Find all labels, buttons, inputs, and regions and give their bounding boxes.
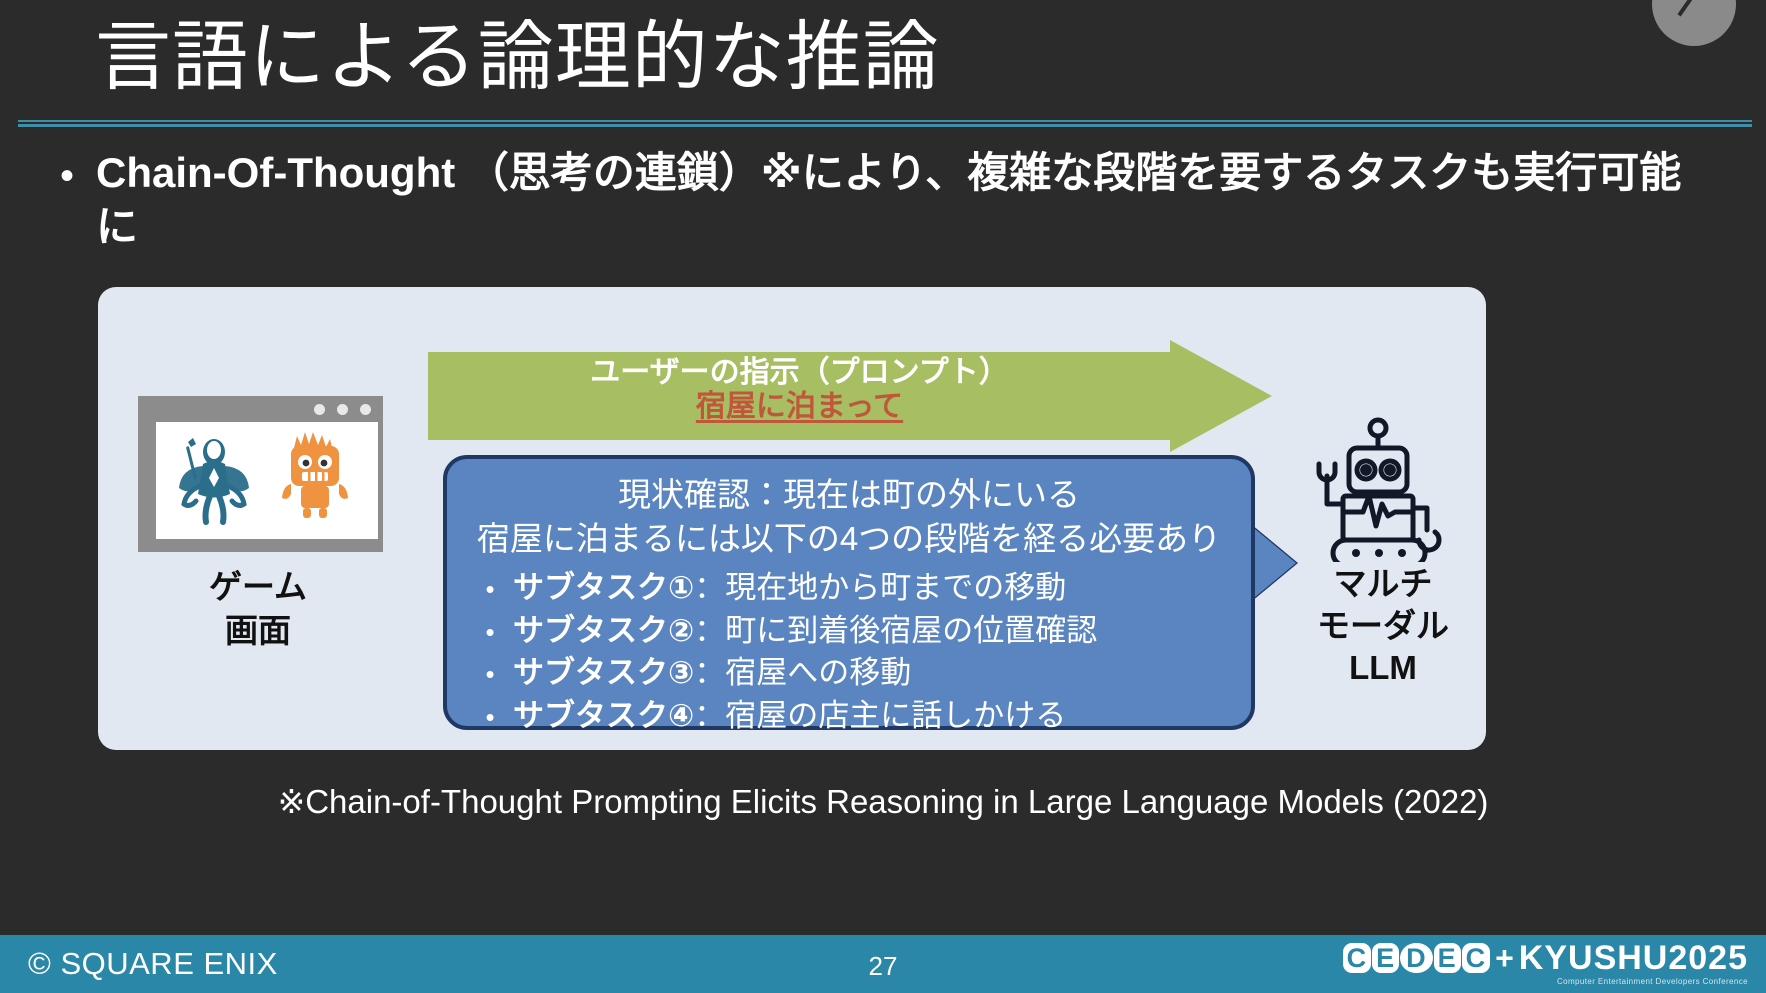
main-bullet: • Chain-Of-Thought （思考の連鎖）※により、複雑な段階を要する…: [60, 146, 1706, 254]
subtask-value: 現在地から町までの移動: [725, 567, 1066, 610]
bubble-content: 現状確認：現在は町の外にいる 宿屋に泊まるには以下の4つの段階を経る必要あり •…: [443, 473, 1255, 738]
cedec-letter-e1: E: [1372, 943, 1399, 973]
window-dot-icon: [337, 404, 348, 415]
prompt-arrow: ユーザーの指示（プロンプト） 宿屋に泊まって: [428, 352, 1271, 440]
list-item: • サブタスク④ ： 宿屋の店主に話しかける: [467, 695, 1255, 738]
list-item: • サブタスク① ： 現在地から町までの移動: [467, 567, 1255, 610]
subtask-bullet-icon: •: [467, 700, 513, 736]
subtask-sep: ：: [694, 567, 725, 610]
cedec-logo: CEDEC + KYUSHU2025 Computer Entertainmen…: [1343, 941, 1748, 986]
cedec-tagline: Computer Entertainment Developers Confer…: [1557, 977, 1748, 986]
footnote-citation: ※Chain-of-Thought Prompting Elicits Reas…: [0, 782, 1766, 821]
diagram-panel: ゲーム 画面 ユーザーの指示（プロンプト） 宿屋に泊まって 現状確認：現在は町の…: [98, 287, 1486, 750]
window-dot-icon: [360, 404, 371, 415]
cedec-plus-sign: +: [1495, 942, 1515, 974]
robot-icon: [1283, 412, 1473, 562]
title-divider: [18, 120, 1752, 128]
list-item: • サブタスク② ： 町に到着後宿屋の位置確認: [467, 610, 1255, 653]
subtask-key: サブタスク③: [513, 652, 694, 695]
subtask-key: サブタスク②: [513, 610, 694, 653]
subtask-value: 町に到着後宿屋の位置確認: [725, 610, 1097, 653]
cedec-wordmark: CEDEC: [1343, 943, 1492, 973]
llm-label: マルチ モーダル LLM: [1273, 563, 1493, 690]
game-label-line1: ゲーム: [128, 565, 388, 609]
game-label-line2: 画面: [128, 609, 388, 653]
cedec-letter-e2: E: [1434, 943, 1461, 973]
subtask-sep: ：: [694, 652, 725, 695]
subtask-sep: ：: [694, 610, 725, 653]
arrow-label-primary: ユーザーの指示（プロンプト）: [428, 356, 1171, 390]
window-dot-icon: [314, 404, 325, 415]
fairy-character-icon: [170, 430, 256, 526]
cedec-kyushu-text: KYUSHU2025: [1519, 941, 1748, 975]
subtask-value: 宿屋への移動: [725, 652, 911, 695]
knob-needle: [1678, 0, 1696, 16]
page-title: 言語による論理的な推論: [95, 10, 940, 105]
subtask-bullet-icon: •: [467, 615, 513, 651]
subtask-list: • サブタスク① ： 現在地から町までの移動 • サブタスク② ： 町に到着後宿…: [443, 567, 1255, 738]
bubble-line-1: 現状確認：現在は町の外にいる: [443, 473, 1255, 517]
subtask-key: サブタスク④: [513, 695, 694, 738]
subtask-sep: ：: [694, 695, 725, 738]
cedec-letter-d: D: [1400, 943, 1433, 973]
cedec-logo-main: CEDEC + KYUSHU2025: [1343, 941, 1748, 975]
llm-label-line1: マルチ: [1273, 563, 1493, 605]
arrow-text-group: ユーザーの指示（プロンプト） 宿屋に泊まって: [428, 356, 1171, 423]
bullet-text: Chain-Of-Thought （思考の連鎖）※により、複雑な段階を要するタス…: [96, 146, 1706, 254]
video-player-knob[interactable]: [1652, 0, 1736, 46]
monster-character-icon: [278, 428, 352, 520]
arrow-label-prompt: 宿屋に泊まって: [428, 390, 1171, 424]
bubble-line-2: 宿屋に泊まるには以下の4つの段階を経る必要あり: [443, 517, 1255, 561]
robot-illustration: [1283, 412, 1473, 562]
bullet-marker: •: [60, 156, 74, 196]
subtask-bullet-icon: •: [467, 572, 513, 608]
arrow-head: [1170, 340, 1272, 452]
game-screen-label: ゲーム 画面: [128, 565, 388, 652]
cedec-letter-c2: C: [1462, 943, 1491, 973]
window-canvas: [156, 422, 378, 539]
subtask-bullet-icon: •: [467, 657, 513, 693]
list-item: • サブタスク③ ： 宿屋への移動: [467, 652, 1255, 695]
llm-label-line2: モーダル: [1273, 605, 1493, 647]
cedec-letter-c1: C: [1343, 943, 1372, 973]
reasoning-bubble-wrap: 現状確認：現在は町の外にいる 宿屋に泊まるには以下の4つの段階を経る必要あり •…: [443, 455, 1293, 730]
footer-bar: © SQUARE ENIX 27 CEDEC + KYUSHU2025 Comp…: [0, 935, 1766, 993]
game-screen-mock: [138, 396, 383, 552]
window-dots: [314, 404, 371, 415]
llm-label-line3: LLM: [1273, 647, 1493, 689]
subtask-value: 宿屋の店主に話しかける: [725, 695, 1066, 738]
window-titlebar: [138, 396, 383, 422]
subtask-key: サブタスク①: [513, 567, 694, 610]
